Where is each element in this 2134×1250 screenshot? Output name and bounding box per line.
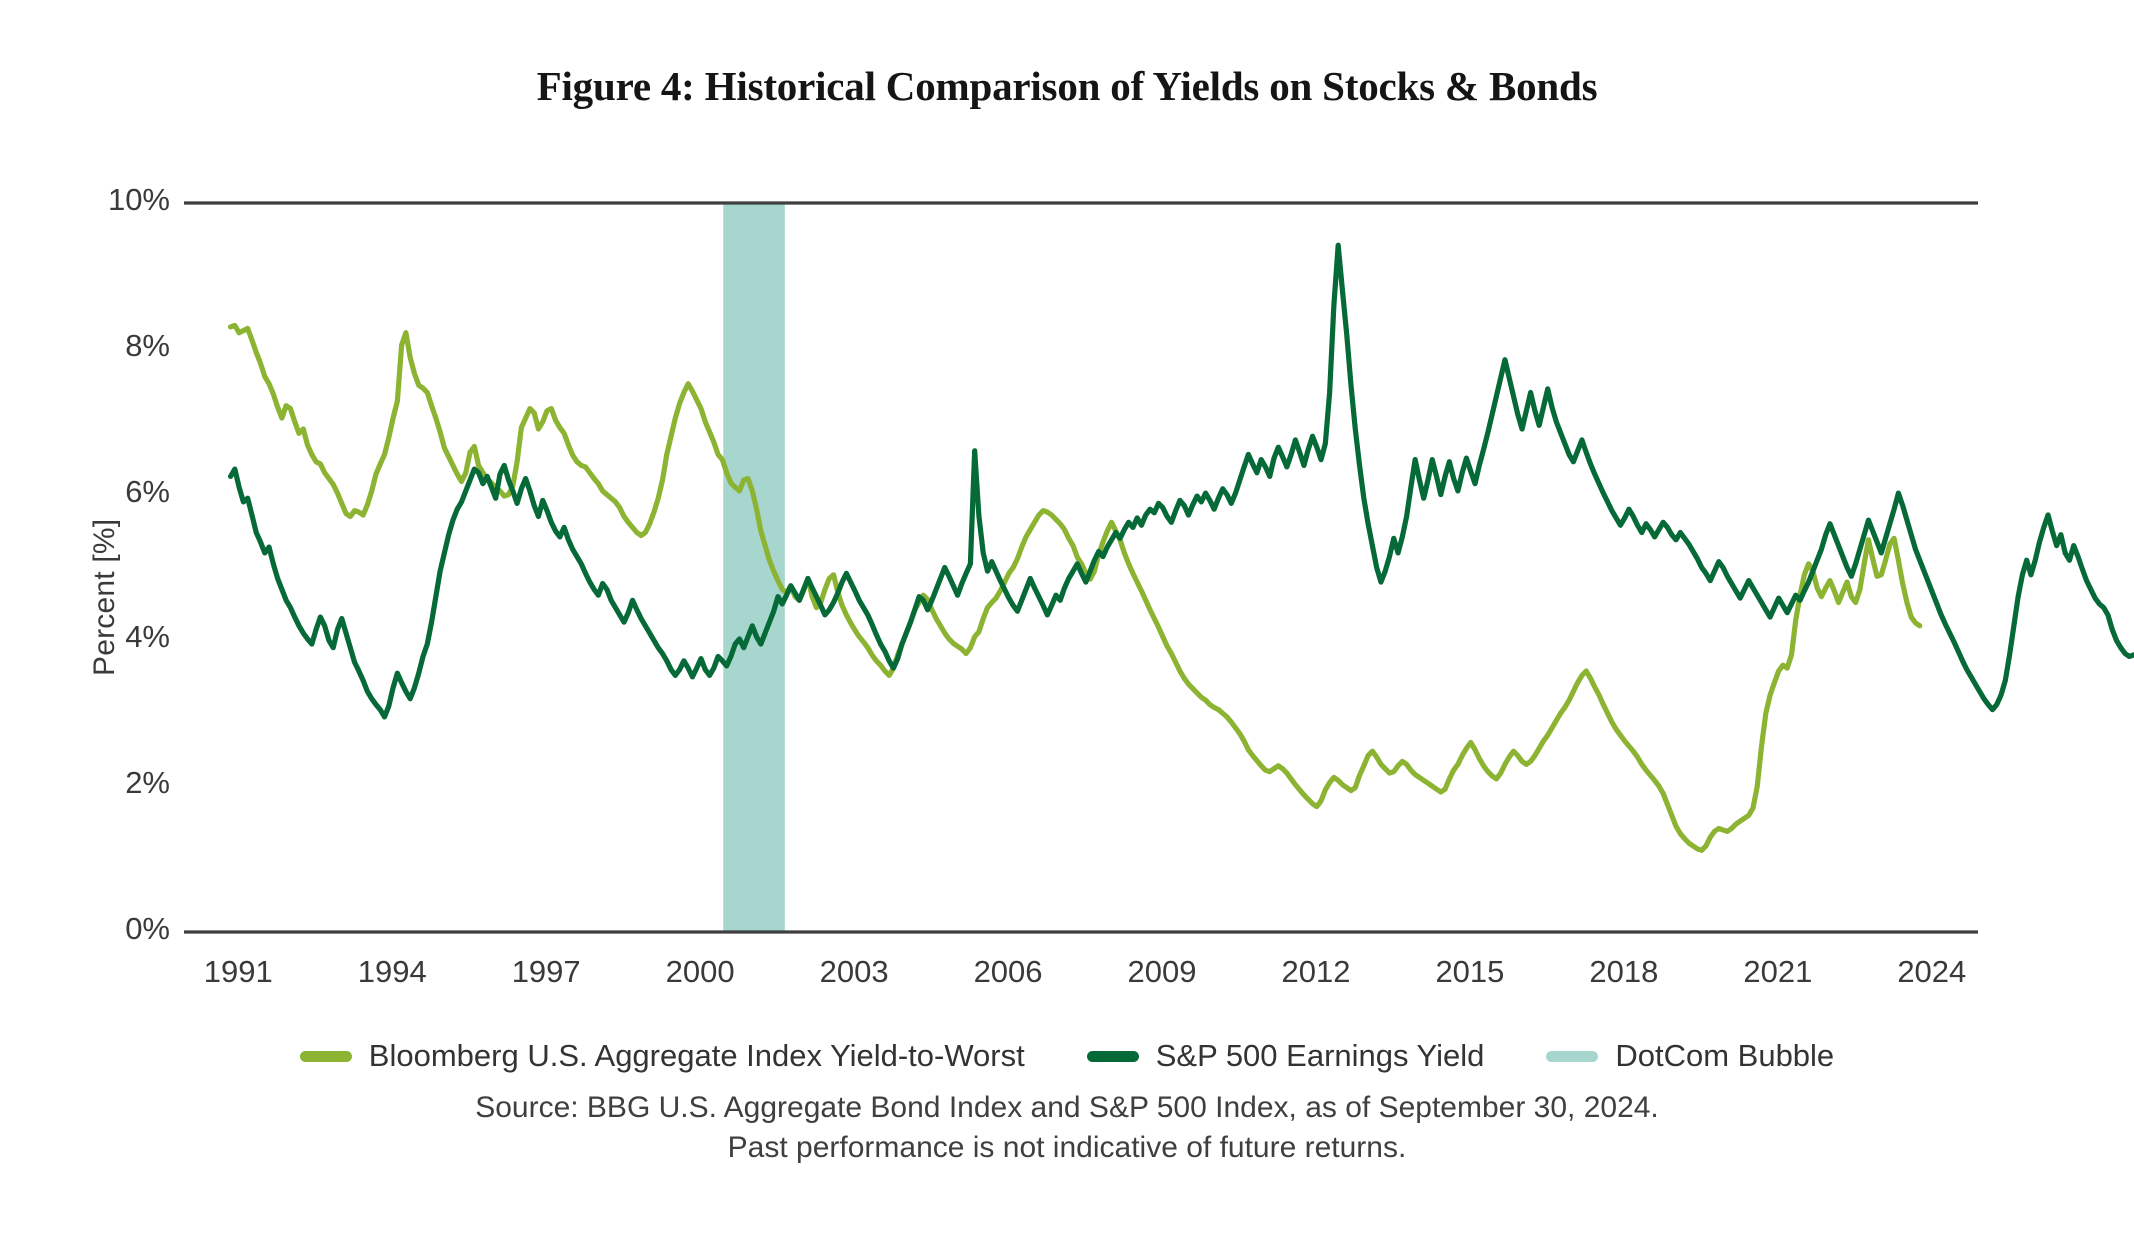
source-line-2: Past performance is not indicative of fu…: [0, 1128, 2134, 1168]
y-tick-label: 0%: [80, 911, 170, 947]
legend-item[interactable]: Bloomberg U.S. Aggregate Index Yield-to-…: [300, 1038, 1025, 1074]
y-tick-label: 6%: [80, 474, 170, 510]
x-tick-label: 2009: [1102, 954, 1222, 990]
x-tick-label: 2006: [948, 954, 1068, 990]
x-tick-label: 2000: [640, 954, 760, 990]
figure-root: Figure 4: Historical Comparison of Yield…: [0, 0, 2134, 1250]
x-tick-label: 1991: [178, 954, 298, 990]
series-group: [231, 245, 2134, 850]
x-tick-label: 2024: [1872, 954, 1992, 990]
x-tick-label: 2018: [1564, 954, 1684, 990]
chart-legend: Bloomberg U.S. Aggregate Index Yield-to-…: [0, 1038, 2134, 1074]
x-tick-label: 1997: [486, 954, 606, 990]
shaded-region-group: [723, 203, 785, 932]
legend-item[interactable]: S&P 500 Earnings Yield: [1087, 1038, 1485, 1074]
legend-item-label: S&P 500 Earnings Yield: [1156, 1038, 1485, 1074]
legend-swatch-icon: [300, 1051, 352, 1062]
source-line-1: Source: BBG U.S. Aggregate Bond Index an…: [0, 1088, 2134, 1128]
y-tick-label: 10%: [80, 182, 170, 218]
source-note: Source: BBG U.S. Aggregate Bond Index an…: [0, 1088, 2134, 1168]
x-tick-label: 2015: [1410, 954, 1530, 990]
legend-item[interactable]: DotCom Bubble: [1546, 1038, 1834, 1074]
legend-swatch-icon: [1087, 1051, 1139, 1062]
y-axis-label: Percent [%]: [88, 518, 122, 675]
legend-item-label: Bloomberg U.S. Aggregate Index Yield-to-…: [369, 1038, 1025, 1074]
legend-swatch-icon: [1546, 1051, 1598, 1062]
y-tick-label: 2%: [80, 765, 170, 801]
legend-item-label: DotCom Bubble: [1615, 1038, 1834, 1074]
dotcom-bubble-band: [723, 203, 785, 932]
x-tick-label: 2012: [1256, 954, 1376, 990]
y-tick-label: 8%: [80, 328, 170, 364]
x-tick-label: 1994: [332, 954, 452, 990]
series-line-bloomberg-agg-ytw: [231, 325, 1920, 850]
x-tick-label: 2021: [1718, 954, 1838, 990]
x-tick-label: 2003: [794, 954, 914, 990]
